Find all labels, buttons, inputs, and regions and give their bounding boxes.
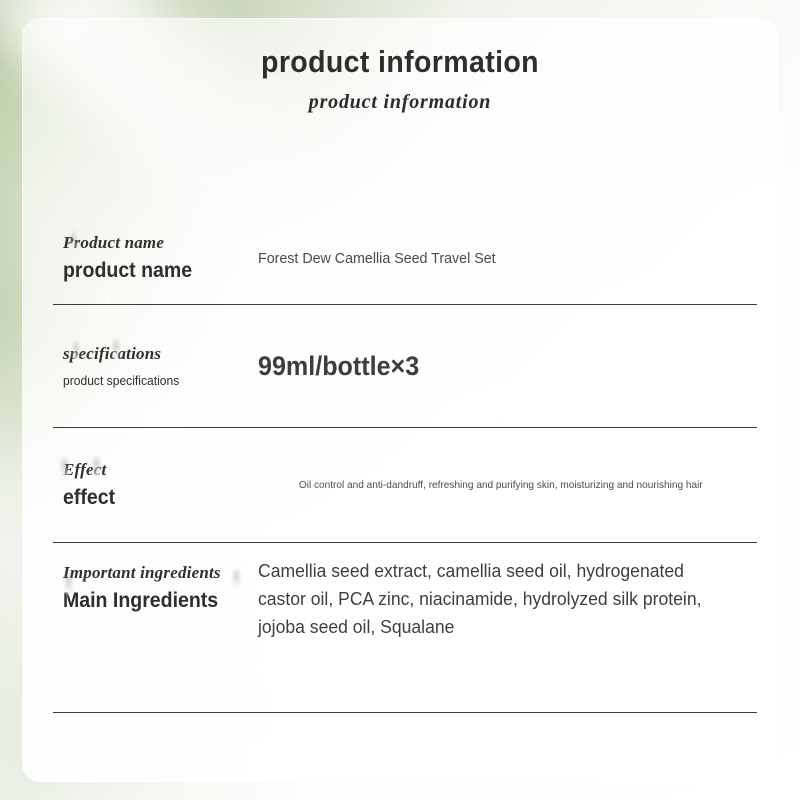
spec-label-secondary: product specifications [63,373,244,388]
spec-label-specifications: specifications product specifications [53,344,258,388]
spec-label-primary: Effect [63,460,258,480]
row-divider [53,712,757,713]
spec-value-effect: Oil control and anti-dandruff, refreshin… [258,477,757,493]
spec-label-product-name: Product name product name [53,233,258,283]
page-title: product information [32,44,768,80]
spec-label-primary: Product name [63,233,258,253]
spec-value-text: Camellia seed extract, camellia seed oil… [258,557,732,641]
spec-value-product-name: Forest Dew Camellia Seed Travel Set [258,250,757,267]
spec-label-primary: specifications [63,344,258,364]
spec-row-product-name: Product name product name Forest Dew Cam… [53,212,757,304]
spec-label-secondary: effect [63,486,244,510]
spec-value-ingredients: Camellia seed extract, camellia seed oil… [258,557,757,641]
spec-value-text: Oil control and anti-dandruff, refreshin… [268,477,747,493]
spec-row-effect: Effect effect Oil control and anti-dandr… [53,428,757,542]
page-subtitle: product information [0,91,800,114]
spec-label-primary: Important ingredients [63,563,258,583]
spec-value-specifications: 99ml/bottle×3 [258,351,757,382]
spec-label-secondary: product name [63,259,244,283]
spec-value-text: Forest Dew Camellia Seed Travel Set [258,250,732,267]
spec-row-ingredients: Important ingredients Main Ingredients C… [53,543,757,712]
spec-value-text: 99ml/bottle×3 [258,351,722,382]
spec-label-secondary: Main Ingredients [63,589,244,613]
spec-label-effect: Effect effect [53,460,258,510]
spec-label-ingredients: Important ingredients Main Ingredients [53,557,258,613]
page-header: product information product information [0,44,800,114]
spec-row-specifications: specifications product specifications 99… [53,305,757,427]
product-information-page: product information product information … [0,0,800,800]
specification-list: Product name product name Forest Dew Cam… [53,212,757,713]
